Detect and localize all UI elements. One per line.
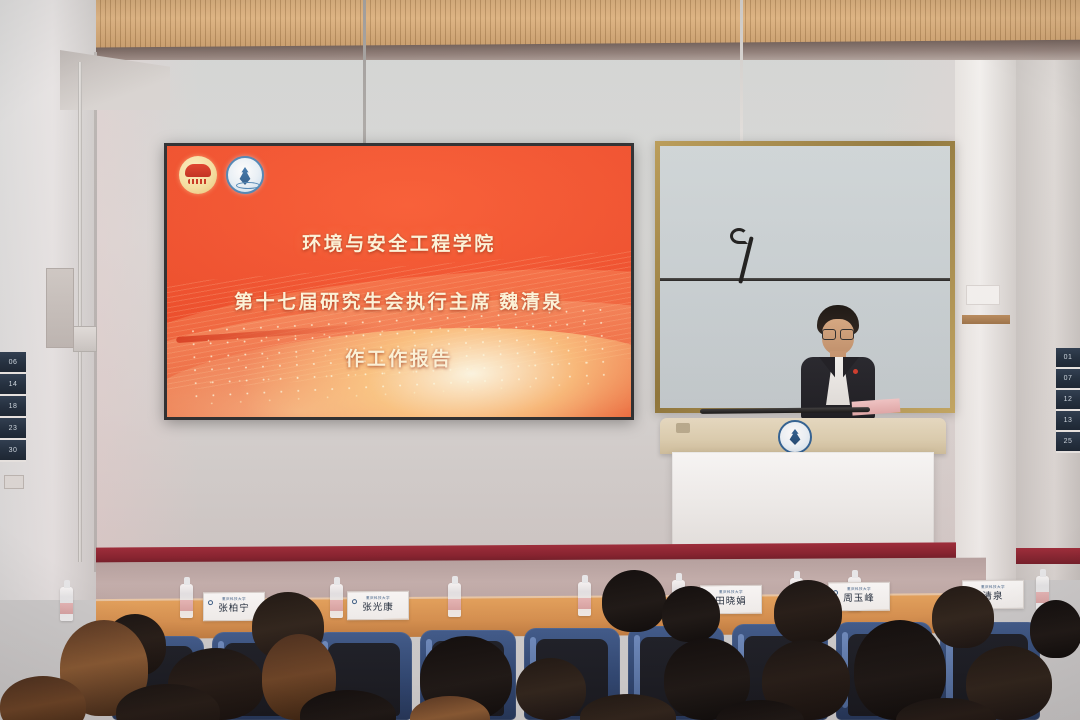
right-number-plaques: 01 07 12 13 25 bbox=[1056, 348, 1080, 453]
podium-body bbox=[672, 452, 934, 554]
speaker-lapel-badge bbox=[853, 369, 858, 374]
placard-name-text: 周玉峰 bbox=[843, 595, 875, 605]
placard-university-line: 重庆科技大学 bbox=[366, 597, 390, 601]
pillar-small-sign bbox=[966, 285, 1000, 305]
placard-name-text: 张光康 bbox=[362, 604, 394, 614]
podium-cable-notch bbox=[676, 423, 690, 433]
plaque-number: 07 bbox=[1056, 369, 1080, 390]
left-number-plaques: 06 14 18 23 30 bbox=[0, 352, 26, 462]
wall-conduit-pipe-lower bbox=[78, 352, 82, 562]
water-bottle bbox=[330, 584, 343, 618]
audience-head bbox=[1030, 600, 1080, 658]
led-display-screen[interactable]: 环境与安全工程学院 第十七届研究生会执行主席 魏清泉 作工作报告 bbox=[164, 143, 634, 420]
water-bottle bbox=[60, 587, 73, 621]
placard-university-line: 重庆科技大学 bbox=[981, 586, 1005, 590]
plaque-number: 12 bbox=[1056, 390, 1080, 411]
whiteboard-hook-icon bbox=[730, 228, 748, 244]
name-placard: 重庆科技大学 张光康 bbox=[347, 591, 409, 620]
audience-head bbox=[774, 580, 842, 644]
right-pillar-front-face bbox=[1016, 60, 1080, 580]
placard-seal-icon bbox=[352, 599, 357, 604]
plaque-number: 06 bbox=[0, 352, 26, 374]
left-wall-corner-edge bbox=[94, 52, 97, 572]
auditorium-photo: 06 14 18 23 30 01 07 12 13 25 bbox=[0, 0, 1080, 720]
podium-university-seal-icon bbox=[778, 420, 812, 454]
whiteboard-rail bbox=[660, 278, 950, 281]
wall-conduit-pipe bbox=[78, 62, 82, 330]
led-screen-surface: 环境与安全工程学院 第十七届研究生会执行主席 魏清泉 作工作报告 bbox=[167, 146, 631, 417]
water-bottle bbox=[180, 584, 193, 618]
university-seal-icon bbox=[226, 156, 264, 194]
water-bottle bbox=[448, 583, 461, 617]
eyeglasses-icon bbox=[822, 329, 854, 338]
screen-title-line-1: 环境与安全工程学院 bbox=[167, 231, 631, 260]
plaque-number: 30 bbox=[0, 440, 26, 462]
placard-name-text: 张柏宁 bbox=[218, 605, 250, 615]
plaque-number: 13 bbox=[1056, 411, 1080, 432]
audience-head bbox=[662, 586, 720, 642]
wall-access-panel bbox=[46, 268, 74, 348]
plaque-number: 18 bbox=[0, 396, 26, 418]
plaque-number: 14 bbox=[0, 374, 26, 396]
communist-youth-league-emblem-icon bbox=[179, 156, 217, 194]
placard-seal-icon bbox=[208, 600, 213, 605]
plaque-number: 23 bbox=[0, 418, 26, 440]
ceiling-cable-right bbox=[740, 0, 743, 160]
audience-head bbox=[932, 586, 994, 648]
conduit-junction-box bbox=[73, 326, 97, 352]
placard-university-line: 重庆科技大学 bbox=[719, 591, 743, 595]
screen-title-block: 环境与安全工程学院 第十七届研究生会执行主席 魏清泉 作工作报告 bbox=[167, 202, 631, 404]
placard-university-line: 重庆科技大学 bbox=[222, 598, 246, 602]
wall-baseboard-right bbox=[1016, 548, 1080, 564]
podium-seal-glyph bbox=[788, 429, 803, 445]
water-bottle bbox=[578, 582, 591, 616]
plaque-number: 25 bbox=[1056, 432, 1080, 453]
placard-name-text: 田晓娟 bbox=[715, 598, 747, 608]
pillar-wood-strip bbox=[962, 315, 1010, 324]
audience-head bbox=[602, 570, 666, 632]
audience-head bbox=[516, 658, 586, 720]
plaque-number: 01 bbox=[1056, 348, 1080, 369]
placard-university-line: 重庆科技大学 bbox=[847, 588, 871, 592]
screen-title-line-2: 第十七届研究生会执行主席 魏清泉 bbox=[167, 289, 631, 318]
screen-logo-group bbox=[179, 156, 264, 194]
screen-title-line-3: 作工作报告 bbox=[167, 346, 631, 375]
wall-outlet bbox=[4, 475, 24, 489]
